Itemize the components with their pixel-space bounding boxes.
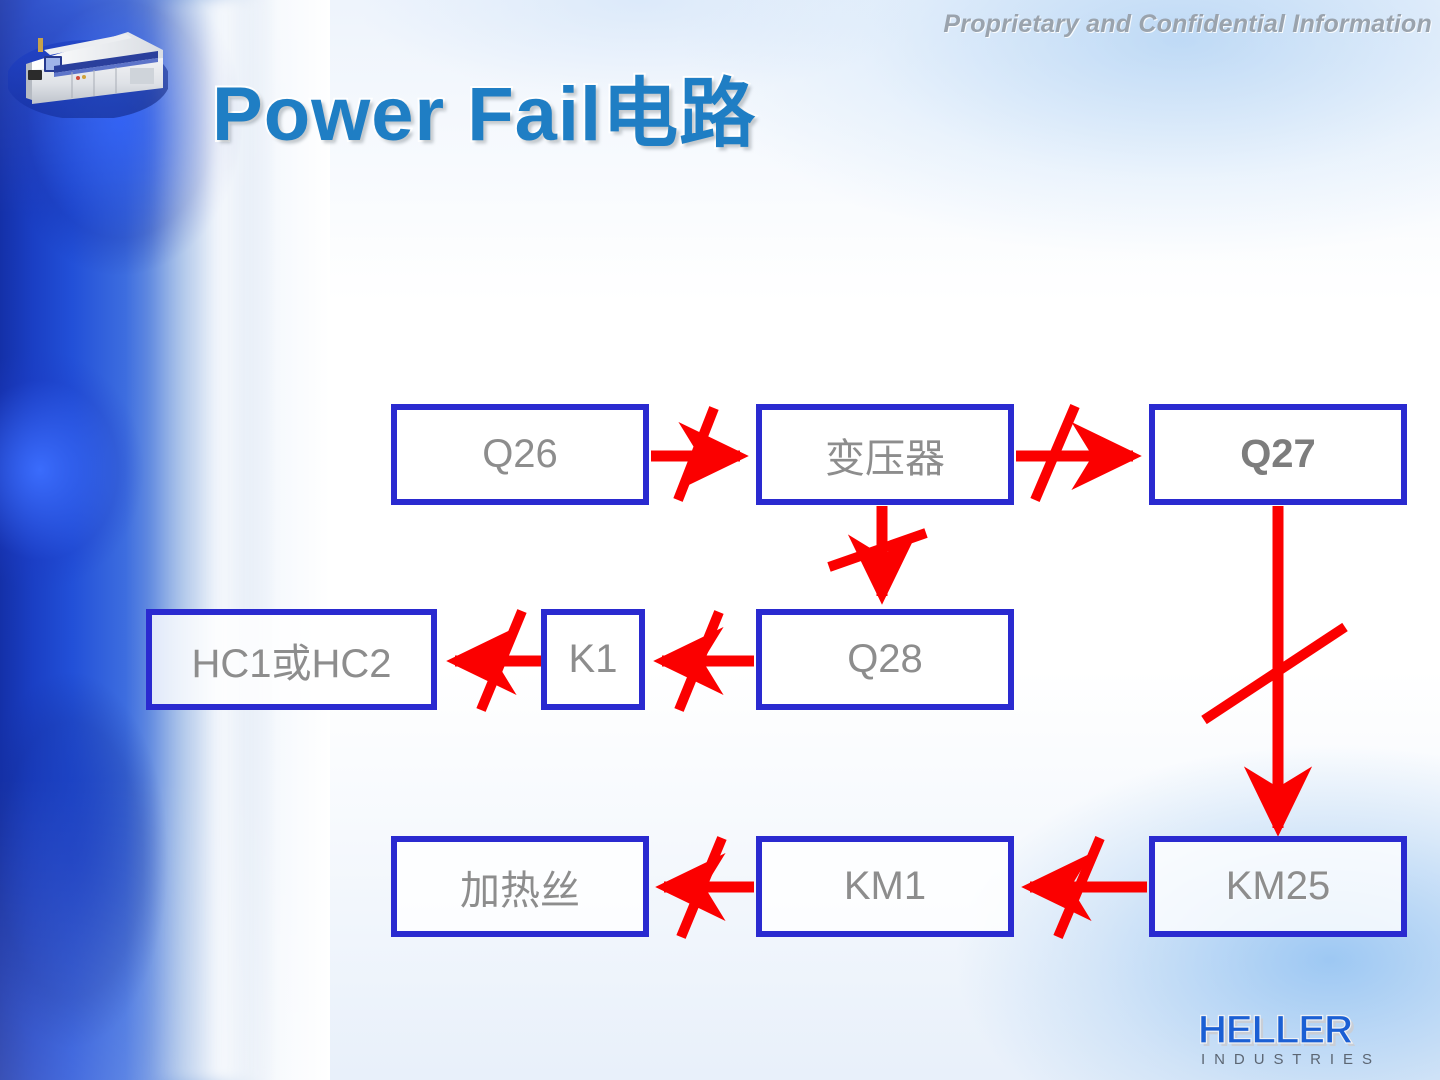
diagram-node-km1[interactable]: KM1 [756,836,1014,937]
heller-logo-wordmark: HELLER [1198,1008,1353,1052]
diagram-node-q28[interactable]: Q28 [756,609,1014,710]
diagram-node-hc1-or-hc2[interactable]: HC1或HC2 [146,609,437,710]
diagram-node-q27[interactable]: Q27 [1149,404,1407,505]
diagram-node-km25[interactable]: KM25 [1149,836,1407,937]
diagram-node-transformer[interactable]: 变压器 [756,404,1014,505]
slide-canvas: Proprietary and Confidential Information [0,0,1440,1080]
confidential-notice: Proprietary and Confidential Information [943,10,1432,39]
diagram-node-heater-wire[interactable]: 加热丝 [391,836,649,937]
diagram-node-k1[interactable]: K1 [541,609,645,710]
diagram-node-q26[interactable]: Q26 [391,404,649,505]
heller-logo: HELLER HELLER I N D U S T R I E S [1195,1008,1430,1070]
reflow-oven-icon [8,18,168,118]
slide-title: Power Fail电路 [212,52,756,162]
background-left-streak [150,0,270,1080]
heller-logo-subtitle: I N D U S T R I E S [1201,1051,1374,1068]
